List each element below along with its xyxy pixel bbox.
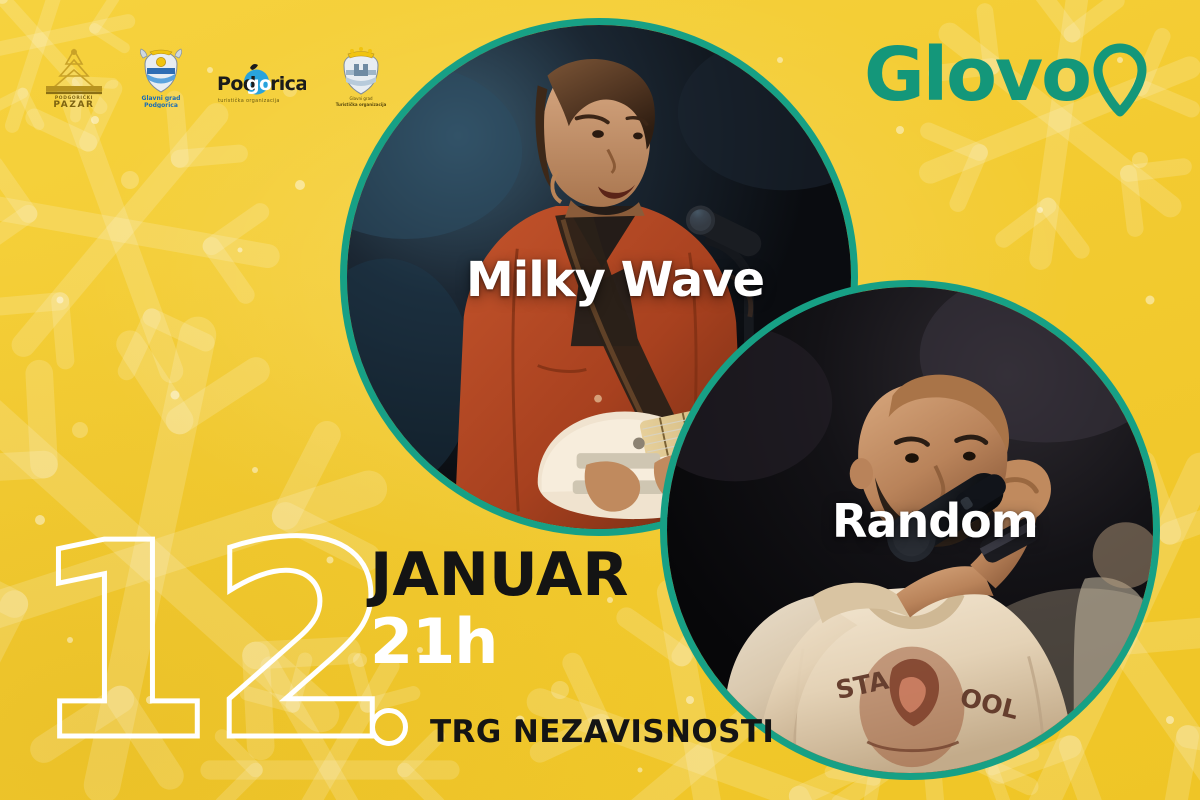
performer-name-milky-wave: Milky Wave [466, 252, 764, 308]
podgorica-tourism-sub: turistička organizacija [218, 97, 280, 104]
event-date-block: JANUAR 21h [370, 545, 629, 676]
sponsor-logo-row: PODGORIČKI PAZAR Glavni grad Pod [40, 44, 390, 113]
pazar-logo: PODGORIČKI PAZAR [40, 46, 108, 113]
performer-name-random: Random [832, 494, 1038, 548]
event-day-dot [370, 708, 408, 746]
podgorica-crest-logo: Glavni grad Podgorica [134, 48, 188, 113]
location-pin-icon [1092, 42, 1148, 118]
pazar-logo-wordmark: PAZAR [53, 100, 94, 108]
svg-text:rica: rica [270, 73, 306, 95]
tourism-board-crest-logo: Glavni grad Turistička organizacija [332, 44, 390, 113]
podgorica-tourism-highlight: go [246, 73, 272, 95]
podgorica-crest-wordmark: Glavni grad [142, 95, 181, 102]
tourism-board-wordmark: Glavni grad [349, 96, 373, 101]
tourism-board-sub: Turistička organizacija [336, 102, 387, 107]
event-month: JANUAR [370, 545, 629, 605]
event-day-number: 12 [28, 508, 388, 778]
podgorica-tourism-logo: Pod go rica turistička organizacija [214, 60, 306, 113]
glovo-brand-logo: Glovo [864, 40, 1148, 118]
podgorica-crest-sub: Podgorica [144, 102, 178, 108]
event-time: 21h [370, 609, 629, 676]
glovo-wordmark: Glovo [864, 40, 1090, 111]
event-venue: TRG NEZAVISNOSTI [430, 714, 774, 750]
event-poster: PODGORIČKI PAZAR Glavni grad Pod [0, 0, 1200, 800]
